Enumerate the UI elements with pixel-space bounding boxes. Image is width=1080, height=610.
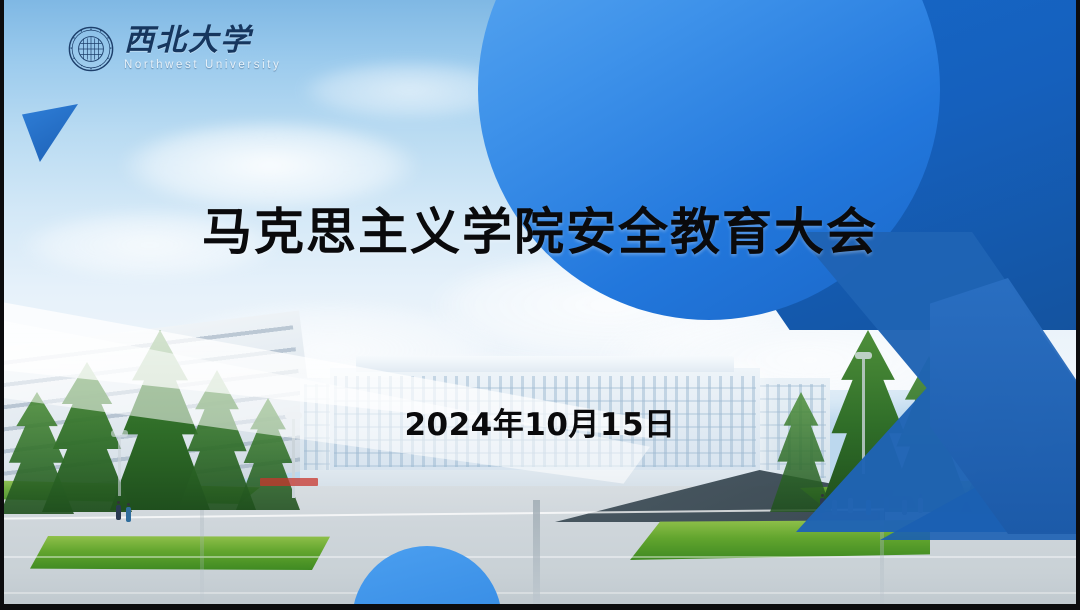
page-title: 马克思主义学院安全教育大会: [0, 192, 1080, 264]
blue-triangle-icon: [22, 104, 78, 162]
bottom-border: [0, 604, 1080, 610]
event-date: 2024年10月15日: [0, 399, 1080, 444]
logo-text-block: 西北大学 Northwest University: [124, 26, 281, 72]
title-slide: 西北大学 Northwest University 马克思主义学院安全教育大会 …: [0, 0, 1080, 610]
logo-name-en: Northwest University: [124, 60, 281, 72]
blue-circle-small-icon: [352, 546, 502, 610]
logo-name-cn: 西北大学: [124, 26, 281, 56]
university-logo: 西北大学 Northwest University: [68, 26, 281, 72]
university-seal-icon: [68, 26, 114, 72]
decorative-shapes: [0, 0, 1080, 610]
left-border: [0, 0, 4, 610]
right-border: [1076, 0, 1080, 610]
